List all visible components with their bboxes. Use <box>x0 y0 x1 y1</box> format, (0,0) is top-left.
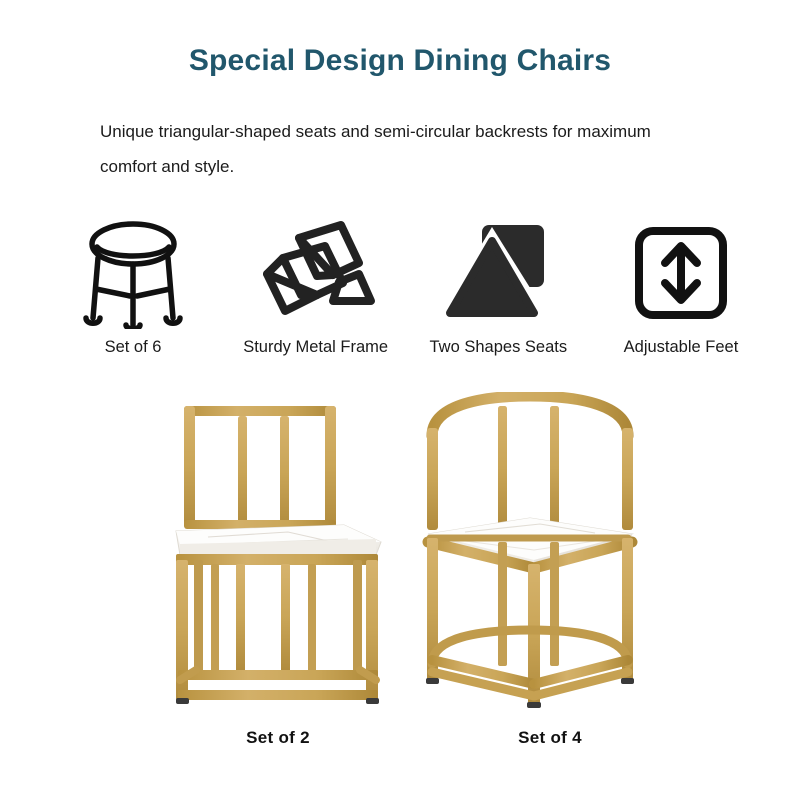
product-image-triangular-seat-chair <box>420 392 680 732</box>
vertical-double-arrow-icon <box>633 214 729 332</box>
header: Special Design Dining Chairs <box>0 44 800 77</box>
product-gallery <box>0 392 800 732</box>
metal-ingots-icon <box>255 214 377 332</box>
page-title: Special Design Dining Chairs <box>0 44 800 77</box>
stool-icon <box>81 214 185 332</box>
infographic-page: Special Design Dining Chairs Unique tria… <box>0 0 800 800</box>
square-triangle-shapes-icon <box>446 214 550 332</box>
feature-label: Set of 6 <box>105 338 162 357</box>
subtitle-block: Unique triangular-shaped seats and semi-… <box>100 115 710 185</box>
feature-list: Set of 6 Sturdy Metal Frame <box>42 214 772 357</box>
feature-item-sturdy-metal-frame: Sturdy Metal Frame <box>225 214 407 357</box>
feature-label: Adjustable Feet <box>624 338 739 357</box>
product-caption-set-of-2: Set of 2 <box>148 728 408 748</box>
product-caption-set-of-4: Set of 4 <box>420 728 680 748</box>
feature-label: Sturdy Metal Frame <box>243 338 388 357</box>
feature-item-adjustable-feet: Adjustable Feet <box>590 214 772 357</box>
page-subtitle: Unique triangular-shaped seats and semi-… <box>100 115 710 185</box>
feature-item-two-shapes-seats: Two Shapes Seats <box>407 214 589 357</box>
feature-item-set-of-6: Set of 6 <box>42 214 224 357</box>
product-image-square-seat-chair <box>148 392 408 732</box>
feature-label: Two Shapes Seats <box>430 338 568 357</box>
